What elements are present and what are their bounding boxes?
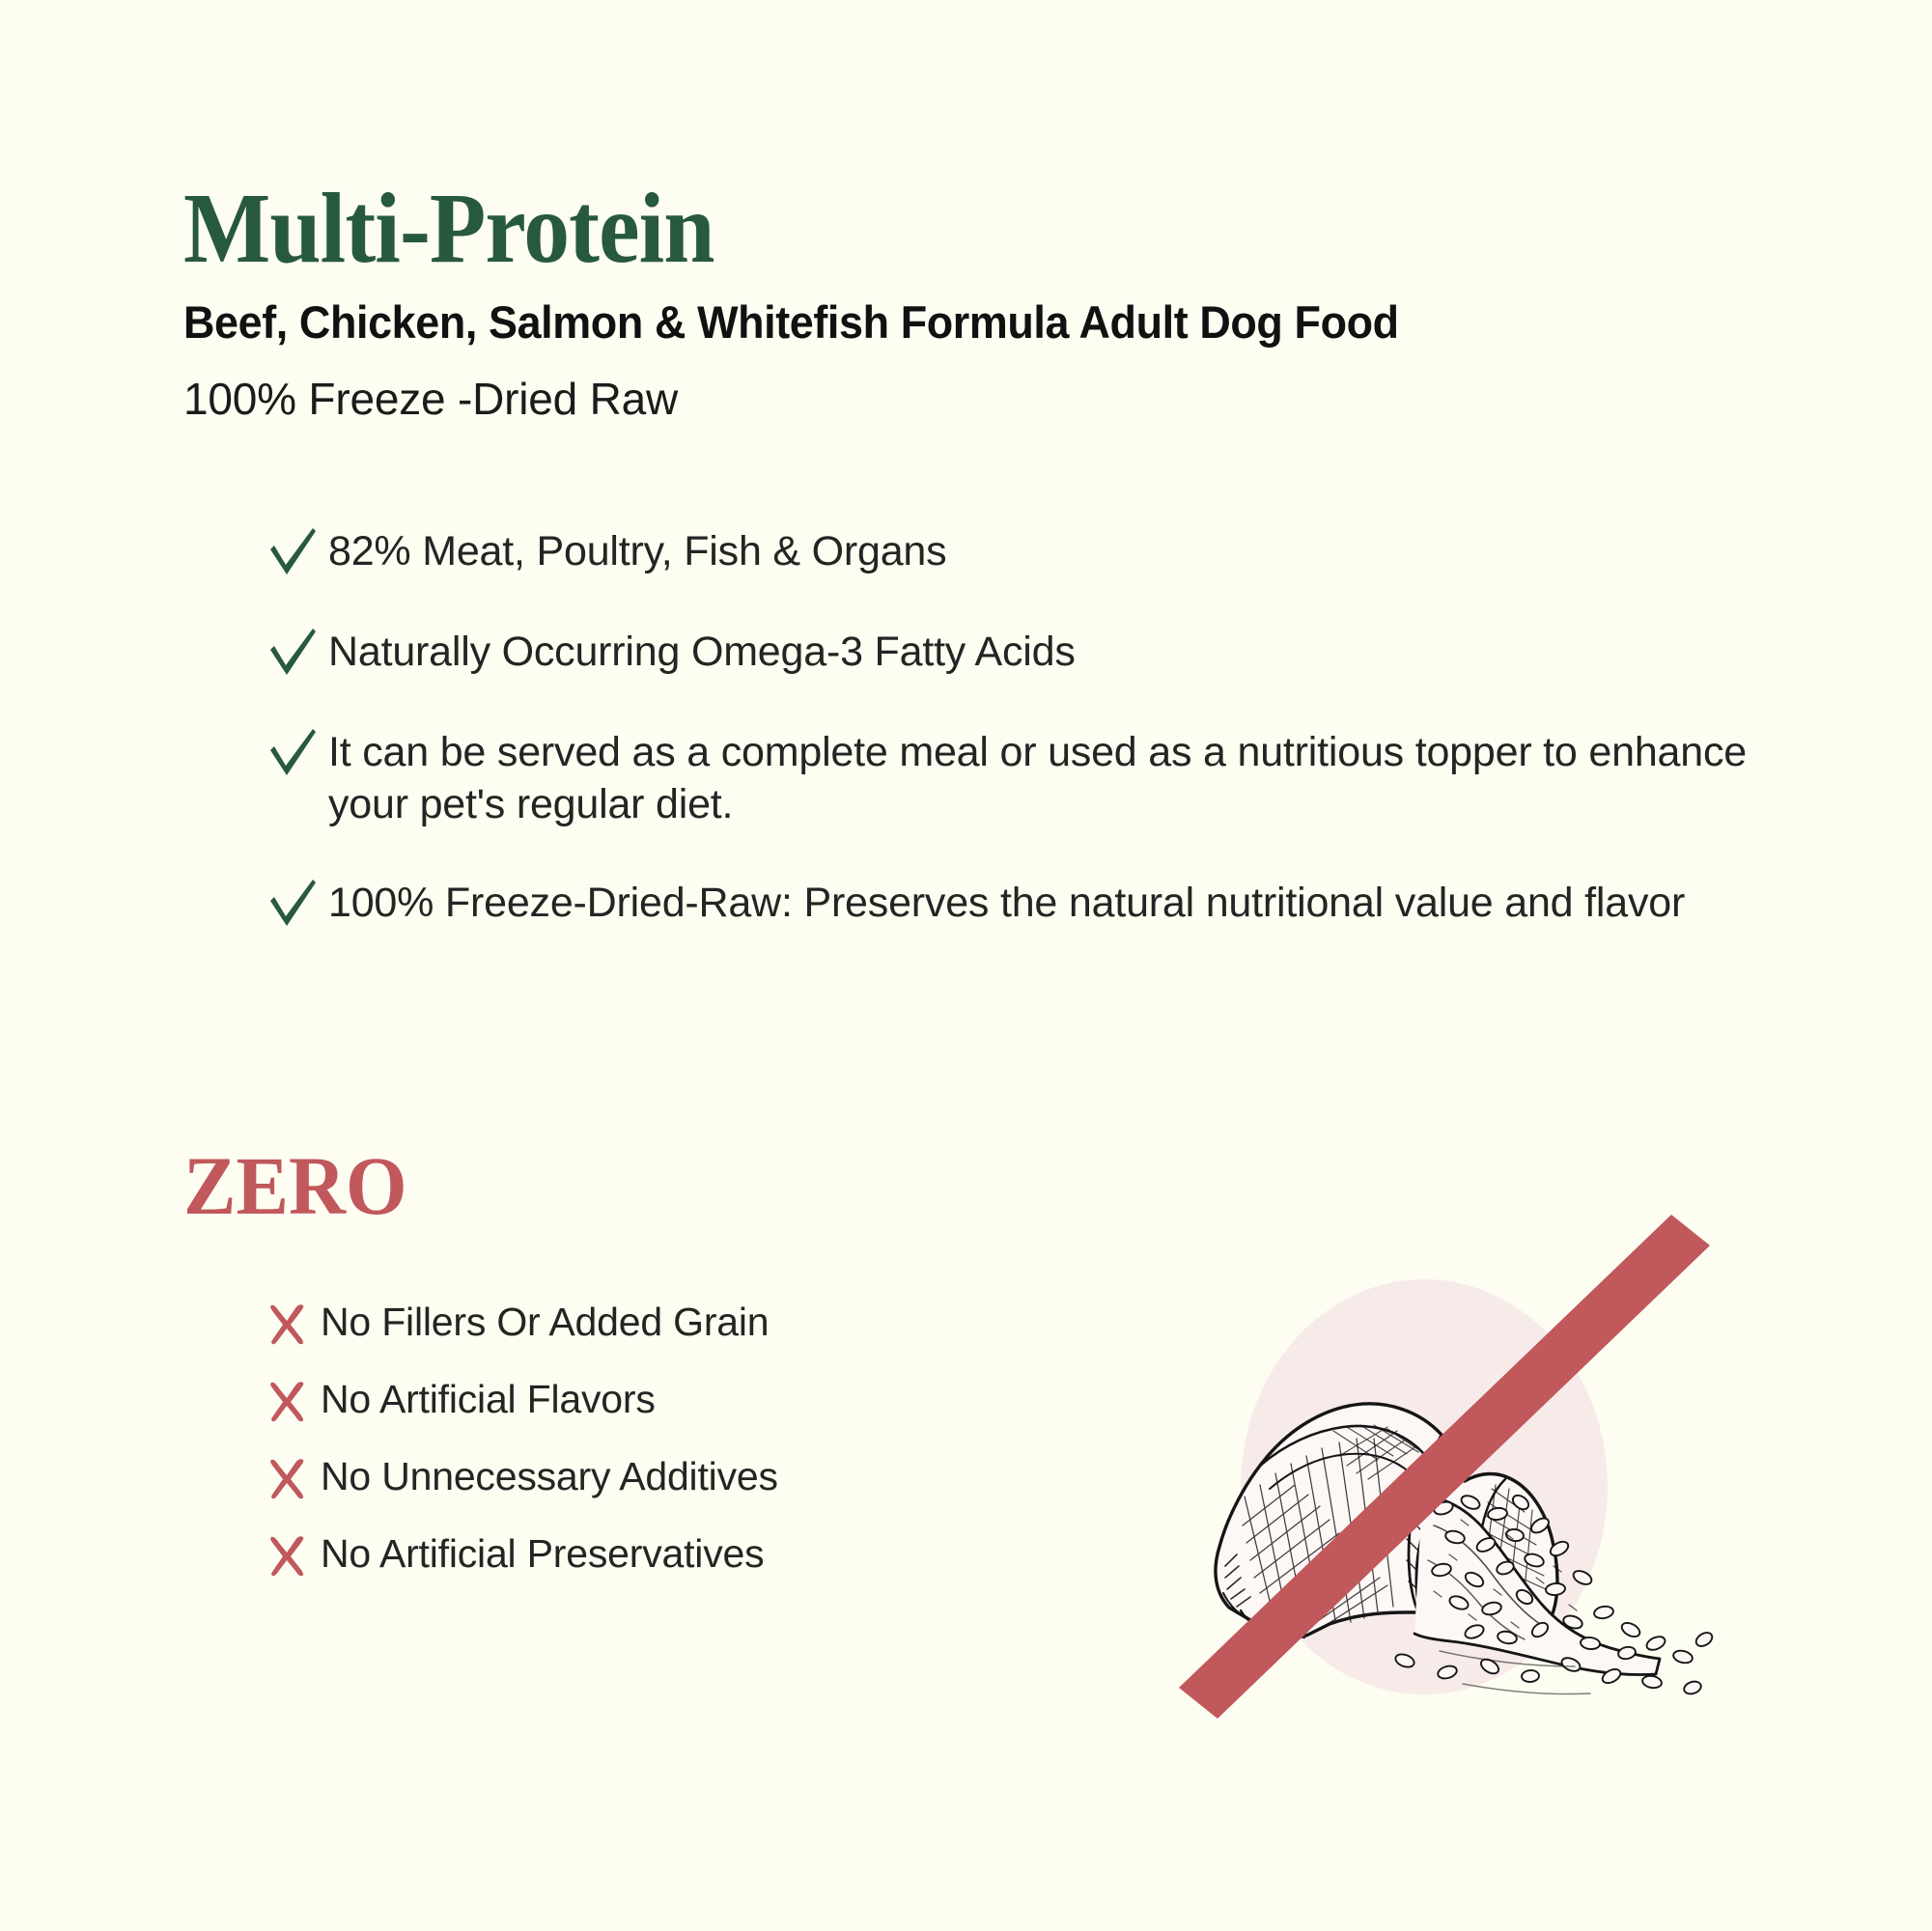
zero-exclusions-list: No Fillers Or Added Grain No Artificial … — [263, 1299, 1132, 1579]
list-item-label: No Artificial Preservatives — [321, 1530, 764, 1578]
list-item-label: 82% Meat, Poultry, Fish & Organs — [328, 526, 946, 578]
benefits-list: 82% Meat, Poultry, Fish & Organs Natural… — [263, 526, 1769, 932]
x-icon — [263, 1376, 311, 1424]
check-icon — [263, 721, 322, 781]
zero-section-heading: ZERO — [183, 1144, 407, 1227]
x-icon — [263, 1453, 311, 1501]
check-icon — [263, 872, 322, 932]
list-item: Naturally Occurring Omega-3 Fatty Acids — [263, 627, 1769, 681]
list-item: 82% Meat, Poultry, Fish & Organs — [263, 526, 1769, 580]
list-item: No Fillers Or Added Grain — [263, 1299, 1132, 1347]
check-icon — [263, 621, 322, 681]
list-item: No Artificial Preservatives — [263, 1530, 1132, 1579]
list-item-label: No Fillers Or Added Grain — [321, 1299, 769, 1346]
list-item-label: No Unnecessary Additives — [321, 1453, 778, 1500]
grain-sack-prohibited-illustration — [1115, 1207, 1733, 1748]
header-block: Multi-Protein Beef, Chicken, Salmon & Wh… — [183, 179, 1786, 425]
product-tagline: 100% Freeze -Dried Raw — [183, 374, 1786, 425]
list-item: No Unnecessary Additives — [263, 1453, 1132, 1501]
product-feature-card: Multi-Protein Beef, Chicken, Salmon & Wh… — [0, 0, 1932, 1931]
x-icon — [263, 1299, 311, 1347]
page-title: Multi-Protein — [183, 179, 1658, 279]
list-item-label: Naturally Occurring Omega-3 Fatty Acids — [328, 627, 1076, 679]
list-item: 100% Freeze-Dried-Raw: Preserves the nat… — [263, 878, 1769, 932]
check-icon — [263, 520, 322, 580]
list-item-label: 100% Freeze-Dried-Raw: Preserves the nat… — [328, 878, 1685, 930]
x-icon — [263, 1530, 311, 1579]
list-item: No Artificial Flavors — [263, 1376, 1132, 1424]
list-item-label: It can be served as a complete meal or u… — [328, 727, 1757, 831]
product-subtitle: Beef, Chicken, Salmon & Whitefish Formul… — [183, 296, 1714, 349]
list-item: It can be served as a complete meal or u… — [263, 727, 1769, 831]
list-item-label: No Artificial Flavors — [321, 1376, 656, 1423]
